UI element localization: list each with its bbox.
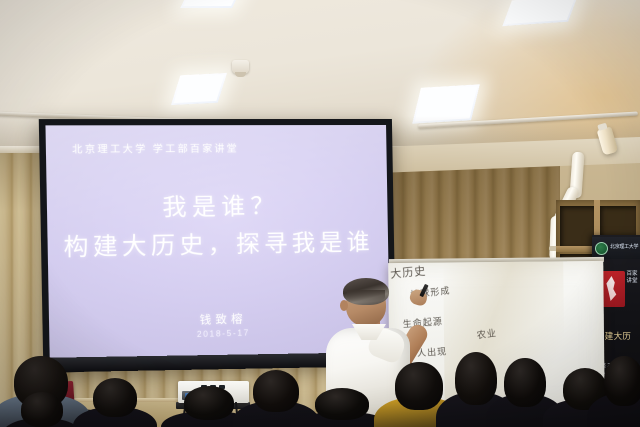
slide-title-text: 我是谁？ bbox=[47, 185, 388, 224]
lecture-hall-scene: 北京理工大学 百家讲堂 构建大历史 讲座 2018年5月 主讲人 钱致榕 北京理… bbox=[0, 0, 640, 427]
audience-head bbox=[395, 362, 442, 410]
audience-head bbox=[253, 370, 299, 412]
audience-head-8 bbox=[598, 356, 640, 427]
speaker-hair bbox=[343, 278, 389, 305]
slide-subtitle-text: 构建大历史，探寻我是谁 bbox=[47, 222, 388, 263]
audience-head bbox=[604, 356, 640, 406]
audience-head bbox=[93, 378, 137, 417]
audience-head bbox=[315, 388, 370, 420]
audience-head bbox=[504, 358, 545, 407]
slide-header-text: 北京理工大学 学工部百家讲堂 bbox=[72, 140, 239, 155]
university-seal-icon bbox=[595, 242, 608, 255]
banner-org-name: 北京理工大学 bbox=[610, 245, 638, 250]
shelf-cubby bbox=[560, 206, 594, 246]
audience-head-5 bbox=[306, 388, 378, 427]
audience-head bbox=[184, 386, 234, 420]
smoke-detector-icon bbox=[232, 60, 249, 74]
audience-head-2 bbox=[86, 378, 144, 427]
audience-head-1 bbox=[14, 392, 70, 427]
audience-head bbox=[21, 392, 64, 427]
speaker-ear bbox=[340, 300, 348, 311]
audience-head bbox=[455, 352, 498, 405]
banner-header: 北京理工大学 bbox=[592, 237, 640, 259]
banner-side-text: 百家讲堂 bbox=[626, 271, 638, 285]
